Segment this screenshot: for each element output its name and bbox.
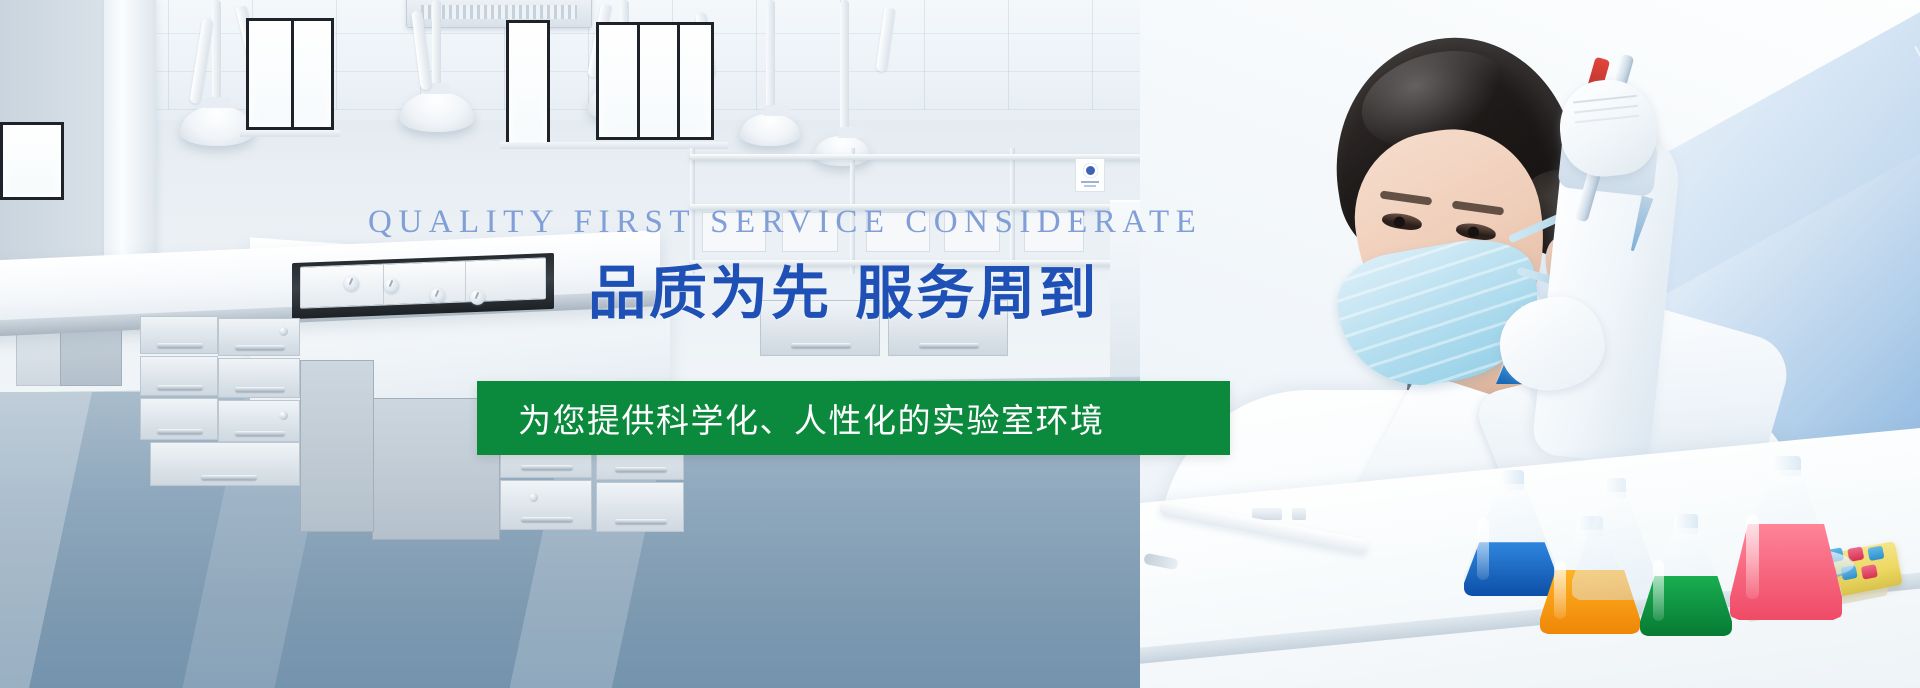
headline: 品质为先 服务周到 [588, 246, 1099, 330]
subtitle-bar: 为您提供科学化、人性化的实验室环境 [477, 381, 1230, 455]
promo-banner: QUALITY FIRST SERVICE CONSIDERATE 品质为先 服… [0, 0, 1920, 688]
english-tagline: QUALITY FIRST SERVICE CONSIDERATE [368, 204, 1202, 241]
subtitle-text: 为您提供科学化、人性化的实验室环境 [518, 394, 1105, 442]
banner-text-overlay: QUALITY FIRST SERVICE CONSIDERATE 品质为先 服… [0, 0, 1920, 688]
